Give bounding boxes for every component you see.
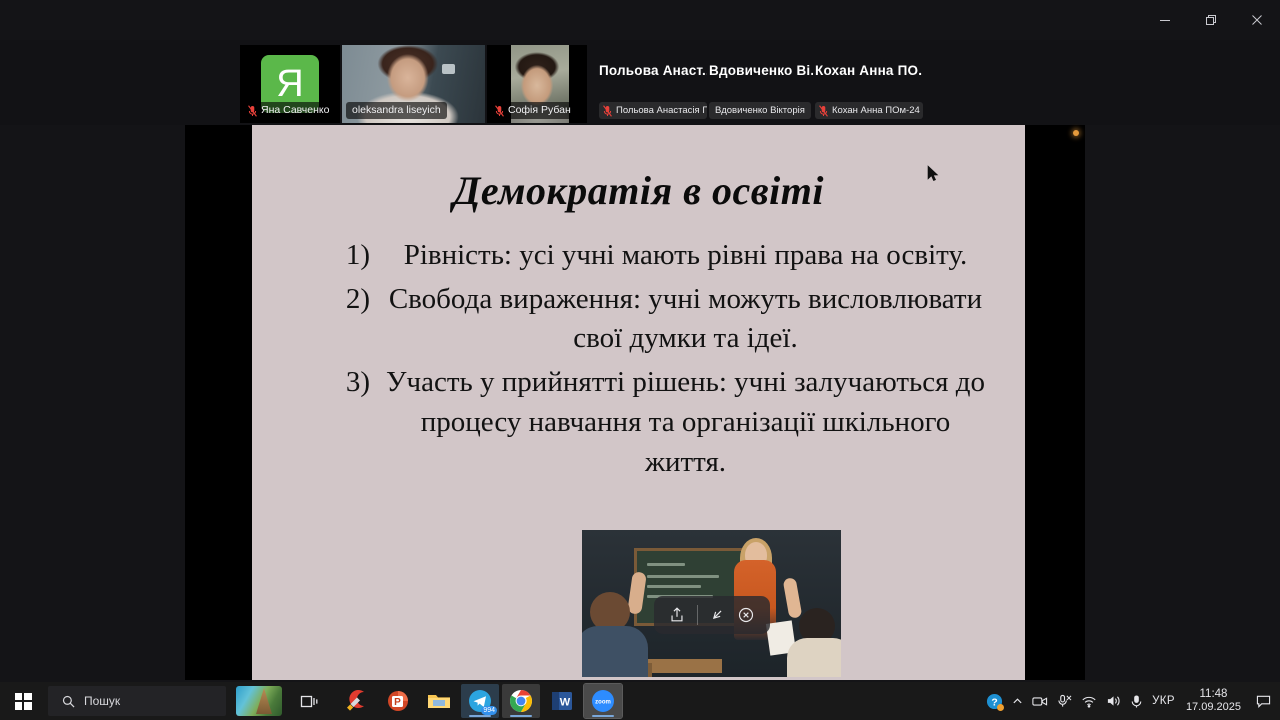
minimize-icon	[1159, 14, 1171, 26]
svg-text:zoom: zoom	[595, 700, 611, 706]
language-indicator[interactable]: УКР	[1152, 695, 1175, 707]
collapse-icon[interactable]	[708, 606, 726, 624]
search-box[interactable]: Пошук	[48, 686, 226, 716]
list-item-number: 3)	[274, 363, 370, 403]
taskbar: Пошук P	[0, 682, 1280, 720]
restore-icon	[1205, 14, 1217, 26]
slide-body: 1) Рівність: усі учні мають рівні права …	[252, 236, 1025, 482]
participant-name-badge: Яна Савченко	[244, 102, 335, 119]
telegram-badge: 994	[481, 706, 497, 715]
participant-name-badge: oleksandra liseyich	[346, 102, 447, 119]
mouse-cursor	[927, 165, 939, 183]
list-item-number: 2)	[274, 280, 370, 320]
mic-muted-icon	[495, 105, 504, 117]
notification-icon	[1256, 694, 1271, 708]
share-icon[interactable]	[668, 606, 686, 624]
list-item-text: Участь у прийнятті рішень: учні залучают…	[370, 363, 1003, 482]
participant-headline: Польова Анаст...	[599, 63, 707, 78]
restore-button[interactable]	[1188, 0, 1234, 40]
participant-name: Яна Савченко	[261, 104, 329, 117]
close-icon	[1251, 14, 1263, 26]
taskbar-app-telegram[interactable]: 994	[461, 684, 499, 718]
slide-photo[interactable]	[582, 530, 841, 677]
participant-name: Софія Рубан	[508, 104, 571, 117]
taskbar-apps: P 994	[338, 684, 622, 718]
search-icon	[62, 695, 75, 708]
zoom-meeting-window: Я Яна Савченко oleksandra liseyich	[0, 0, 1280, 720]
start-button[interactable]	[0, 682, 46, 720]
minimize-button[interactable]	[1142, 0, 1188, 40]
taskbar-app-word[interactable]: W	[543, 684, 581, 718]
participant-name-badge: Софія Рубан	[491, 102, 577, 119]
participant-tile-sofia[interactable]: Софія Рубан	[487, 45, 587, 123]
photo-toolbar	[654, 596, 770, 634]
powerpoint-icon: P	[385, 688, 411, 714]
windows-logo-icon	[15, 693, 32, 710]
chrome-icon	[508, 688, 534, 714]
student-right-body	[787, 638, 841, 677]
zoom-icon: zoom	[590, 688, 616, 714]
mic-muted-icon	[819, 105, 828, 117]
microphone-icon[interactable]	[1130, 694, 1143, 709]
shared-screen-area[interactable]: Демократія в освіті 1) Рівність: усі учн…	[185, 125, 1085, 680]
window-controls	[1142, 0, 1280, 40]
list-item: 2) Свобода вираження: учні можуть вислов…	[274, 280, 1003, 359]
list-item-number: 1)	[274, 236, 370, 276]
title-bar	[0, 0, 1280, 40]
svg-text:P: P	[394, 697, 401, 708]
participant-tile-polova[interactable]: Польова Анаст... Польова Анастасія П...	[599, 45, 707, 123]
help-button[interactable]: ?	[986, 693, 1003, 710]
weather-widget[interactable]	[236, 686, 282, 716]
toolbar-divider	[697, 605, 698, 625]
participant-tile-oleksandra[interactable]: oleksandra liseyich	[342, 45, 485, 123]
close-button[interactable]	[1234, 0, 1280, 40]
svg-text:W: W	[560, 697, 571, 709]
word-icon: W	[549, 688, 575, 714]
participant-headline: Кохан Анна ПО...	[815, 63, 923, 78]
taskbar-app-powerpoint[interactable]: P	[379, 684, 417, 718]
participant-tile-yana[interactable]: Я Яна Савченко	[240, 45, 340, 123]
wifi-icon[interactable]	[1081, 695, 1097, 708]
participant-tile-vdovychenko[interactable]: Вдовиченко Ві... Вдовиченко Вікторія	[709, 45, 813, 123]
show-hidden-icons-chevron-up-icon[interactable]	[1012, 696, 1023, 707]
camera-icon[interactable]	[1032, 695, 1048, 708]
volume-icon[interactable]	[1106, 694, 1121, 708]
clock[interactable]: 11:48 17.09.2025	[1184, 688, 1243, 714]
mic-muted-icon	[248, 105, 257, 117]
mic-off-icon[interactable]	[1057, 694, 1072, 708]
help-badge	[997, 704, 1004, 711]
participant-strip: Я Яна Савченко oleksandra liseyich	[0, 40, 1280, 125]
participant-name: Польова Анастасія П...	[616, 104, 707, 117]
system-tray: ?	[986, 688, 1280, 714]
tile-gap	[589, 45, 597, 123]
participant-name-badge: Польова Анастасія П...	[599, 102, 707, 119]
clock-date: 17.09.2025	[1186, 701, 1241, 714]
participant-tile-kokhan[interactable]: Кохан Анна ПО... Кохан Анна ПОм-24	[815, 45, 923, 123]
taskbar-app-file-explorer[interactable]	[420, 684, 458, 718]
participant-name: Кохан Анна ПОм-24	[832, 104, 920, 117]
clock-time: 11:48	[1186, 688, 1241, 701]
participant-name: oleksandra liseyich	[352, 104, 441, 117]
participant-headline: Вдовиченко Ві...	[709, 63, 813, 78]
recording-indicator	[1073, 130, 1079, 136]
participant-tiles: Я Яна Савченко oleksandra liseyich	[240, 45, 923, 123]
student-left-body	[582, 626, 648, 677]
task-view-icon	[300, 693, 319, 710]
slide-title: Демократія в освіті	[252, 167, 1025, 214]
list-item-text: Свобода вираження: учні можуть висловлюв…	[370, 280, 1003, 359]
search-placeholder: Пошук	[84, 694, 120, 708]
participant-name-badge: Вдовиченко Вікторія	[709, 102, 811, 119]
folder-icon	[426, 688, 452, 714]
taskbar-app-chrome[interactable]	[502, 684, 540, 718]
notification-center-button[interactable]	[1252, 694, 1274, 708]
participant-name: Вдовиченко Вікторія	[715, 104, 805, 117]
taskbar-app-ccleaner[interactable]	[338, 684, 376, 718]
taskbar-app-zoom[interactable]: zoom	[584, 684, 622, 718]
list-item: 1) Рівність: усі учні мають рівні права …	[274, 236, 1003, 276]
mic-muted-icon	[603, 105, 612, 117]
list-item: 3) Участь у прийнятті рішень: учні залуч…	[274, 363, 1003, 482]
participant-name-badge: Кохан Анна ПОм-24	[815, 102, 923, 119]
list-item-text: Рівність: усі учні мають рівні права на …	[370, 236, 1003, 276]
task-view-button[interactable]	[290, 684, 328, 718]
presentation-slide: Демократія в освіті 1) Рівність: усі учн…	[252, 125, 1025, 680]
close-circle-icon[interactable]	[737, 606, 755, 624]
ccleaner-icon	[344, 688, 370, 714]
